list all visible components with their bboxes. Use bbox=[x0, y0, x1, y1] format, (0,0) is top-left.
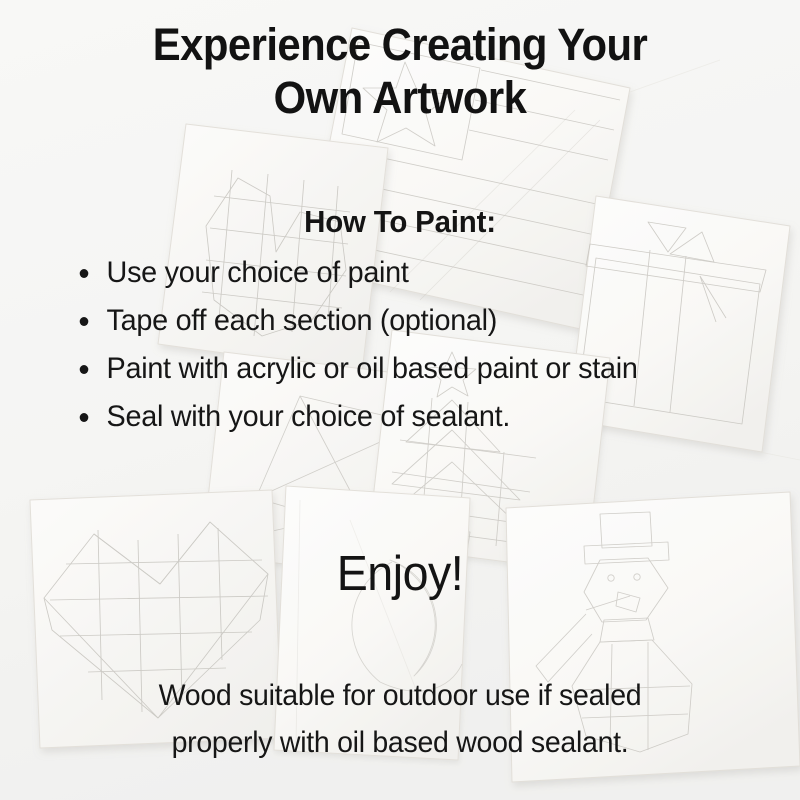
text-overlay: Experience Creating Your Own Artwork How… bbox=[0, 0, 800, 800]
bullet-dot-icon bbox=[80, 317, 89, 326]
list-item: Use your choice of paint bbox=[72, 249, 744, 297]
bullet-dot-icon bbox=[80, 413, 89, 422]
title-line-2: Own Artwork bbox=[28, 71, 772, 124]
footer-note: Wood suitable for outdoor use if sealed … bbox=[0, 672, 800, 766]
instruction-bullet-list: Use your choice of paint Tape off each s… bbox=[72, 249, 772, 441]
title-line-1: Experience Creating Your bbox=[28, 18, 772, 71]
list-item-label: Paint with acrylic or oil based paint or… bbox=[107, 352, 638, 385]
list-item-label: Use your choice of paint bbox=[107, 256, 409, 289]
bullet-dot-icon bbox=[80, 365, 89, 374]
footer-line-1: Wood suitable for outdoor use if sealed bbox=[20, 672, 780, 719]
how-to-paint-heading: How To Paint: bbox=[20, 203, 780, 241]
enjoy-text: Enjoy! bbox=[20, 545, 780, 603]
list-item: Seal with your choice of sealant. bbox=[72, 393, 744, 441]
list-item: Tape off each section (optional) bbox=[72, 297, 744, 345]
footer-line-2: properly with oil based wood sealant. bbox=[20, 719, 780, 766]
bullet-dot-icon bbox=[80, 269, 89, 278]
list-item-label: Tape off each section (optional) bbox=[107, 304, 498, 337]
page-title: Experience Creating Your Own Artwork bbox=[0, 18, 800, 124]
list-item-label: Seal with your choice of sealant. bbox=[107, 400, 511, 433]
list-item: Paint with acrylic or oil based paint or… bbox=[72, 345, 744, 393]
